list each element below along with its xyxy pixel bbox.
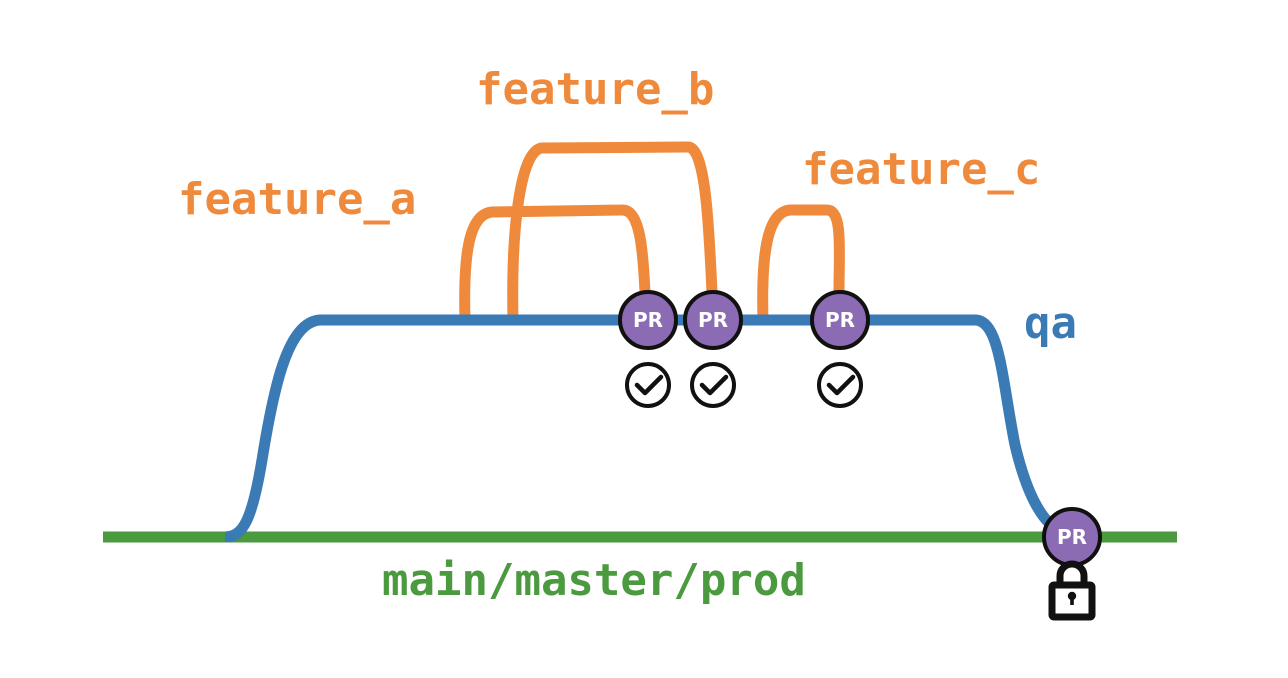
branch-label-feature-c: feature_c [802,144,1040,195]
pr-node-1[interactable]: PR [620,292,676,348]
check-circle-icon[interactable] [692,364,734,406]
lock-keyhole-stem [1070,596,1074,605]
check-circle-icon[interactable] [627,364,669,406]
diagram-canvas: PR PR PR PR [0,0,1288,678]
git-flow-diagram: PR PR PR PR [0,0,1288,678]
check-circle-ring [627,364,669,406]
check-circle-icon[interactable] [819,364,861,406]
qa-branch-line [225,320,1062,537]
branch-label-qa: qa [1024,298,1077,349]
pr-node-label: PR [1057,525,1087,549]
pr-node-label: PR [633,308,663,332]
pr-node-2[interactable]: PR [685,292,741,348]
feature-a-line [465,210,645,320]
pr-node-4[interactable]: PR [1044,509,1100,565]
pr-node-3[interactable]: PR [812,292,868,348]
check-circle-ring [819,364,861,406]
pr-node-label: PR [698,308,728,332]
branch-label-main: main/master/prod [382,555,806,606]
pr-node-label: PR [825,308,855,332]
branch-label-feature-a: feature_a [178,174,416,225]
branch-label-feature-b: feature_b [476,64,714,115]
check-circle-ring [692,364,734,406]
feature-b-line [513,147,712,320]
lock-icon[interactable] [1052,564,1092,617]
